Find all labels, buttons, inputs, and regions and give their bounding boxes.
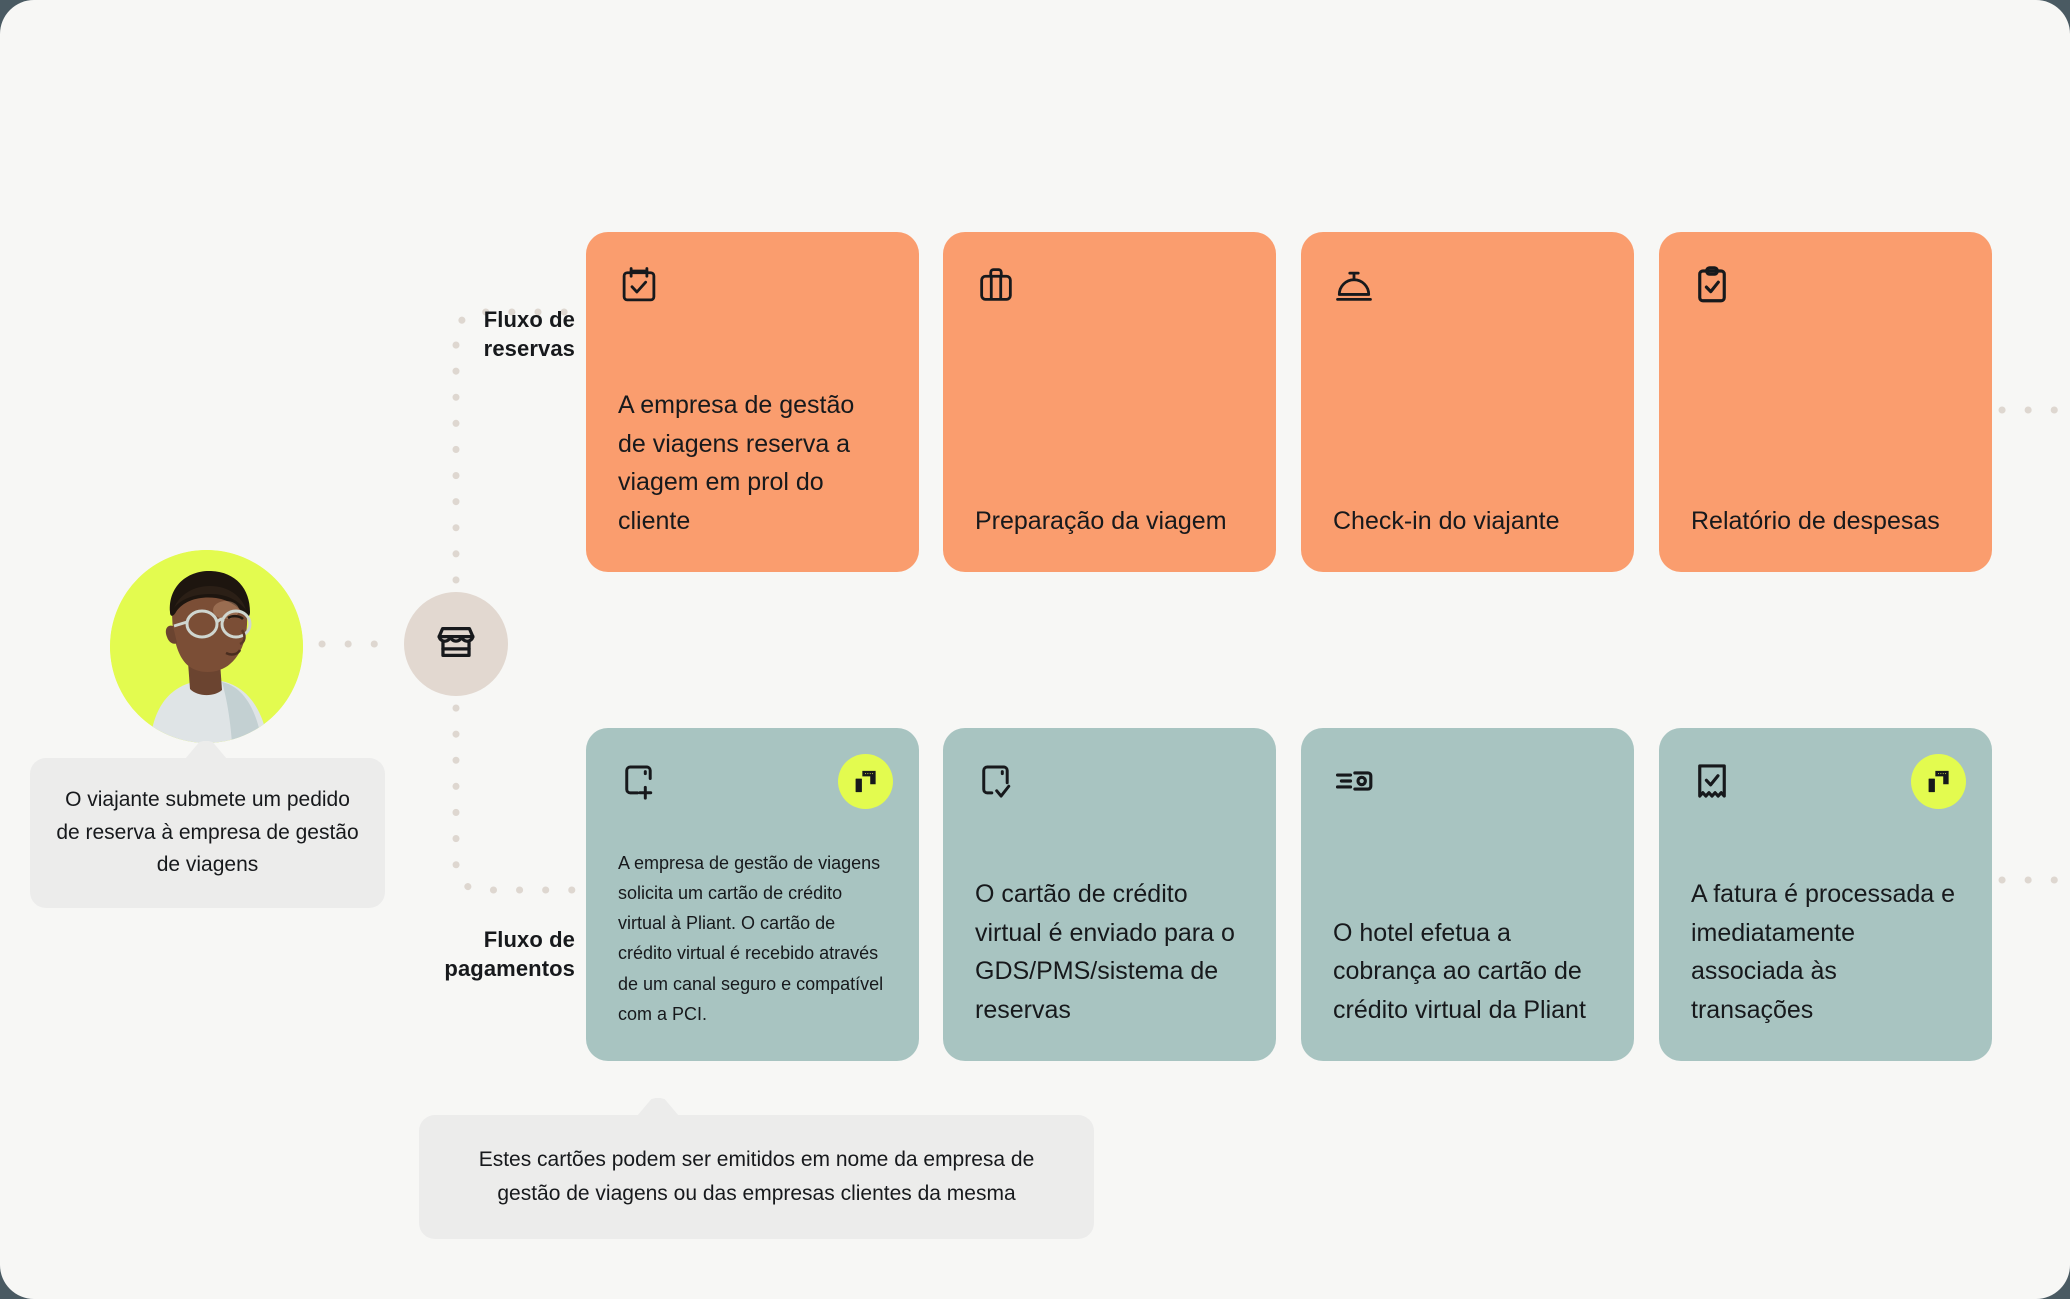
- card-check-icon: [975, 760, 1244, 808]
- payment-card-1-text: A empresa de gestão de viagens solicita …: [618, 848, 887, 1029]
- booking-card-2-text: Preparação da viagem: [975, 502, 1244, 541]
- hub-node: [404, 592, 508, 696]
- payment-card-3-text: O hotel efetua a cobrança ao cartão de c…: [1333, 914, 1602, 1030]
- pliant-logo-badge: [838, 754, 893, 809]
- row-label-payment-line2: pagamentos: [370, 954, 575, 983]
- pliant-logo-badge: [1911, 754, 1966, 809]
- booking-card-4[interactable]: Relatório de despesas: [1659, 232, 1992, 572]
- booking-card-3-text: Check-in do viajante: [1333, 502, 1602, 541]
- row-label-booking-line2: reservas: [370, 334, 575, 363]
- suitcase-icon: [975, 264, 1244, 312]
- pliant-logo-icon: [1925, 768, 1952, 795]
- booking-card-2[interactable]: Preparação da viagem: [943, 232, 1276, 572]
- cards-callout-bubble: Estes cartões podem ser emitidos em nome…: [419, 1115, 1094, 1239]
- booking-card-1-text: A empresa de gestão de viagens reserva a…: [618, 386, 887, 540]
- payment-card-3[interactable]: O hotel efetua a cobrança ao cartão de c…: [1301, 728, 1634, 1061]
- row-label-payment-line1: Fluxo de: [370, 925, 575, 954]
- row-label-booking: Fluxo de reservas: [370, 305, 575, 363]
- payment-card-2-text: O cartão de crédito virtual é enviado pa…: [975, 875, 1244, 1029]
- traveler-avatar: [110, 550, 303, 743]
- storefront-icon: [433, 619, 479, 670]
- calendar-check-icon: [618, 264, 887, 312]
- connector-hub-to-payment: [456, 708, 586, 890]
- row-label-payment: Fluxo de pagamentos: [370, 925, 575, 983]
- booking-card-4-text: Relatório de despesas: [1691, 502, 1960, 541]
- bubble-tail: [185, 741, 227, 759]
- pliant-logo-icon: [852, 768, 879, 795]
- connector-lines: [0, 0, 2070, 1299]
- row-label-booking-line1: Fluxo de: [370, 305, 575, 334]
- payment-card-4[interactable]: A fatura é processada e imediatamente as…: [1659, 728, 1992, 1061]
- card-swipe-icon: [1333, 760, 1602, 808]
- service-bell-icon: [1333, 264, 1602, 312]
- cards-callout-text: Estes cartões podem ser emitidos em nome…: [479, 1148, 1035, 1205]
- booking-card-1[interactable]: A empresa de gestão de viagens reserva a…: [586, 232, 919, 572]
- bubble-tail: [637, 1098, 679, 1116]
- payment-card-2[interactable]: O cartão de crédito virtual é enviado pa…: [943, 728, 1276, 1061]
- payment-card-4-text: A fatura é processada e imediatamente as…: [1691, 875, 1960, 1029]
- traveler-callout-bubble: O viajante submete um pedido de reserva …: [30, 758, 385, 908]
- traveler-callout-text: O viajante submete um pedido de reserva …: [56, 788, 358, 876]
- clipboard-check-icon: [1691, 264, 1960, 312]
- payment-card-1[interactable]: A empresa de gestão de viagens solicita …: [586, 728, 919, 1061]
- diagram-canvas: Fluxo de reservas Fluxo de pagamentos A …: [0, 0, 2070, 1299]
- booking-card-3[interactable]: Check-in do viajante: [1301, 232, 1634, 572]
- avatar-portrait: [110, 550, 303, 743]
